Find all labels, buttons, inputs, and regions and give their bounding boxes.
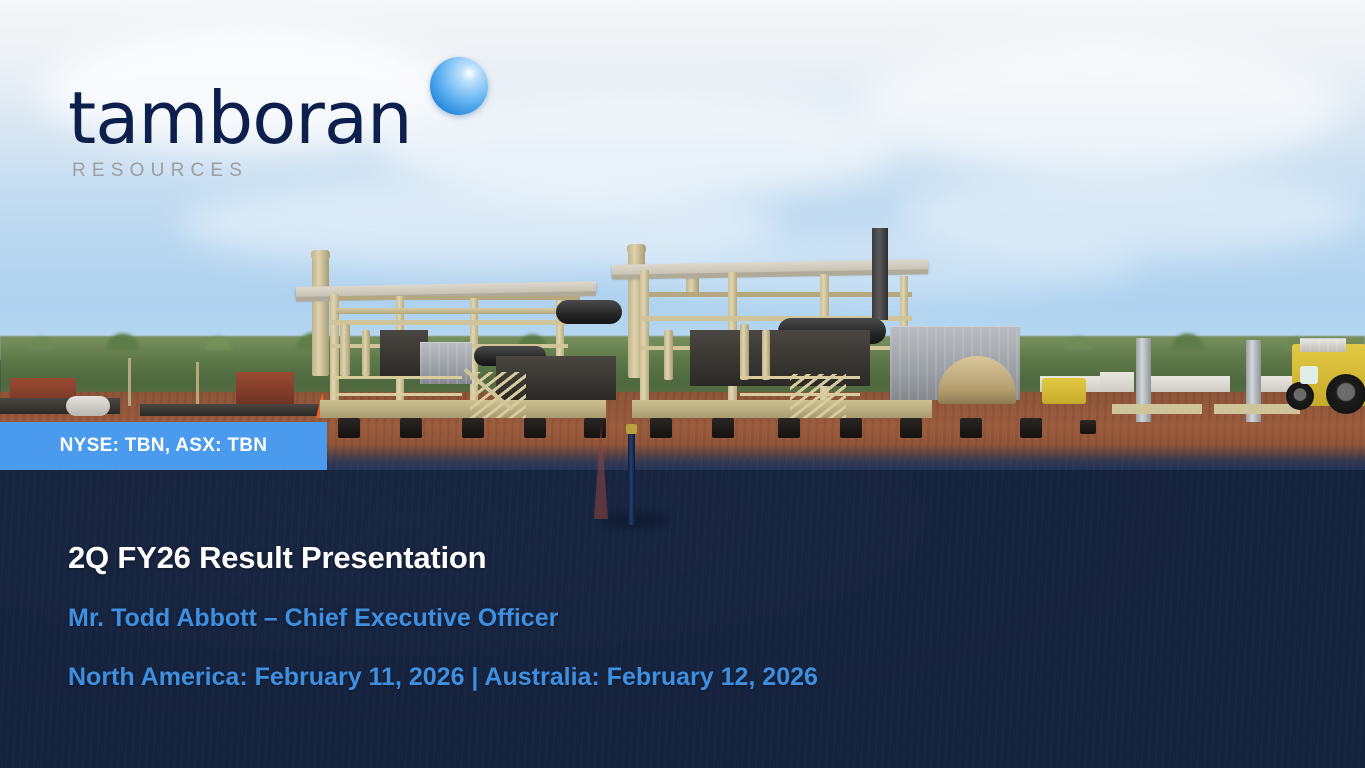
truck-decal (1300, 366, 1318, 384)
module-foot (712, 418, 734, 438)
blue-sphere-icon (430, 57, 488, 115)
pressure-vessel (556, 300, 622, 324)
pole (196, 362, 199, 406)
dates-line: North America: February 11, 2026 | Austr… (68, 663, 818, 692)
logo-wordmark: tamboran (68, 90, 412, 146)
module-skid (632, 400, 932, 418)
pipe-cap (627, 244, 646, 254)
cloud (860, 40, 1340, 170)
column (640, 270, 649, 414)
module-foot (1020, 418, 1042, 438)
camp-building (1150, 376, 1230, 392)
pipe-cap (311, 250, 330, 260)
company-logo: tamboran RESOURCES (68, 90, 412, 182)
foreground-cone (594, 424, 608, 519)
timber-mat (1214, 404, 1300, 414)
status-badge: NYSE: TBN, ASX: TBN (0, 422, 327, 470)
equipment (236, 372, 294, 406)
stairs (790, 374, 846, 418)
logo-subword: RESOURCES (72, 160, 412, 182)
cross-beam (330, 320, 568, 325)
truck-cab (1300, 338, 1346, 352)
module-foot (840, 418, 862, 438)
truck-tyre (1286, 382, 1314, 410)
tank (66, 396, 110, 416)
hero-photo (0, 0, 1365, 470)
module-foot (1080, 420, 1096, 434)
module-foot (900, 418, 922, 438)
vertical-pipe (740, 324, 749, 380)
pole-shadow (600, 512, 670, 528)
pole (128, 358, 131, 406)
exhaust-stack (872, 228, 888, 320)
vertical-pipe (762, 330, 770, 380)
vertical-pipe (312, 256, 329, 376)
vertical-pipe (664, 330, 673, 380)
module-skid (320, 400, 606, 418)
foreground-pole (628, 430, 635, 525)
module-foot (462, 418, 484, 438)
module-foot (400, 418, 422, 438)
vertical-pipe (340, 324, 350, 376)
canopy-beam (330, 296, 580, 300)
module-foot (778, 418, 800, 438)
horizontal-pipe (336, 308, 576, 314)
handrail (332, 376, 462, 396)
module-foot (650, 418, 672, 438)
title-block: 2Q FY26 Result Presentation Mr. Todd Abb… (68, 540, 818, 692)
module-foot (524, 418, 546, 438)
ticker-label: NYSE: TBN, ASX: TBN (60, 435, 268, 457)
timber-mat (1112, 404, 1202, 414)
presenter-line: Mr. Todd Abbott – Chief Executive Office… (68, 604, 818, 633)
yellow-equipment (1042, 378, 1086, 404)
truck-tyre (1326, 374, 1365, 414)
presentation-slide: tamboran RESOURCES NYSE: TBN, ASX: TBN 2… (0, 0, 1365, 768)
vertical-pipe (362, 330, 370, 376)
pole-tip (626, 424, 637, 434)
page-title: 2Q FY26 Result Presentation (68, 540, 818, 576)
module-foot (338, 418, 360, 438)
camp-building (1100, 372, 1134, 392)
module-foot (960, 418, 982, 438)
